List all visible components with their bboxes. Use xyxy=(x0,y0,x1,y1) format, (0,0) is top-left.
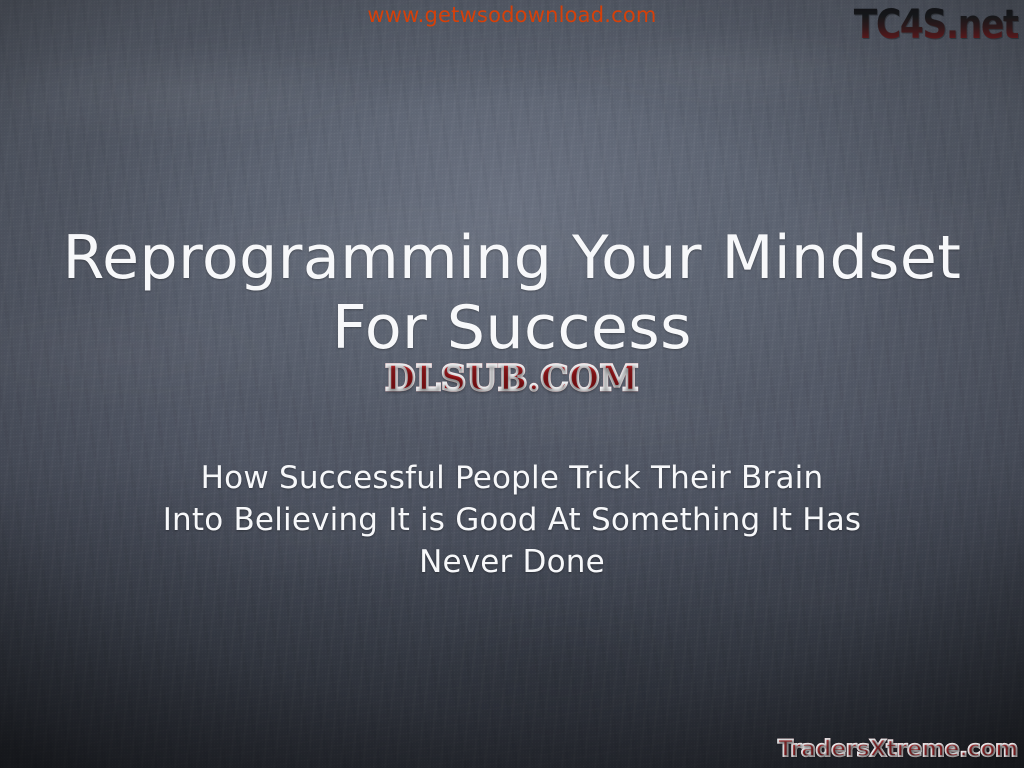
watermark-tradersxtreme: TradersXtreme.com xyxy=(778,737,1018,762)
slide-title: Reprogramming Your Mindset For Success xyxy=(0,224,1024,363)
watermark-tc4s-logo: TC4S.net xyxy=(854,2,1018,48)
watermark-dlsub: DLSUB.COM xyxy=(0,358,1024,399)
slide-subtitle-line-2: Into Believing It is Good At Something I… xyxy=(0,500,1024,542)
presentation-slide: www.getwsodownload.com TC4S.net Reprogra… xyxy=(0,0,1024,768)
slide-title-line-2: For Success xyxy=(0,294,1024,364)
watermark-dlsub-text: DLSUB.COM xyxy=(385,358,639,399)
slide-subtitle-line-1: How Successful People Trick Their Brain xyxy=(0,458,1024,500)
slide-subtitle: How Successful People Trick Their Brain … xyxy=(0,458,1024,584)
slide-title-line-1: Reprogramming Your Mindset xyxy=(63,223,962,293)
slide-subtitle-line-3: Never Done xyxy=(0,542,1024,584)
